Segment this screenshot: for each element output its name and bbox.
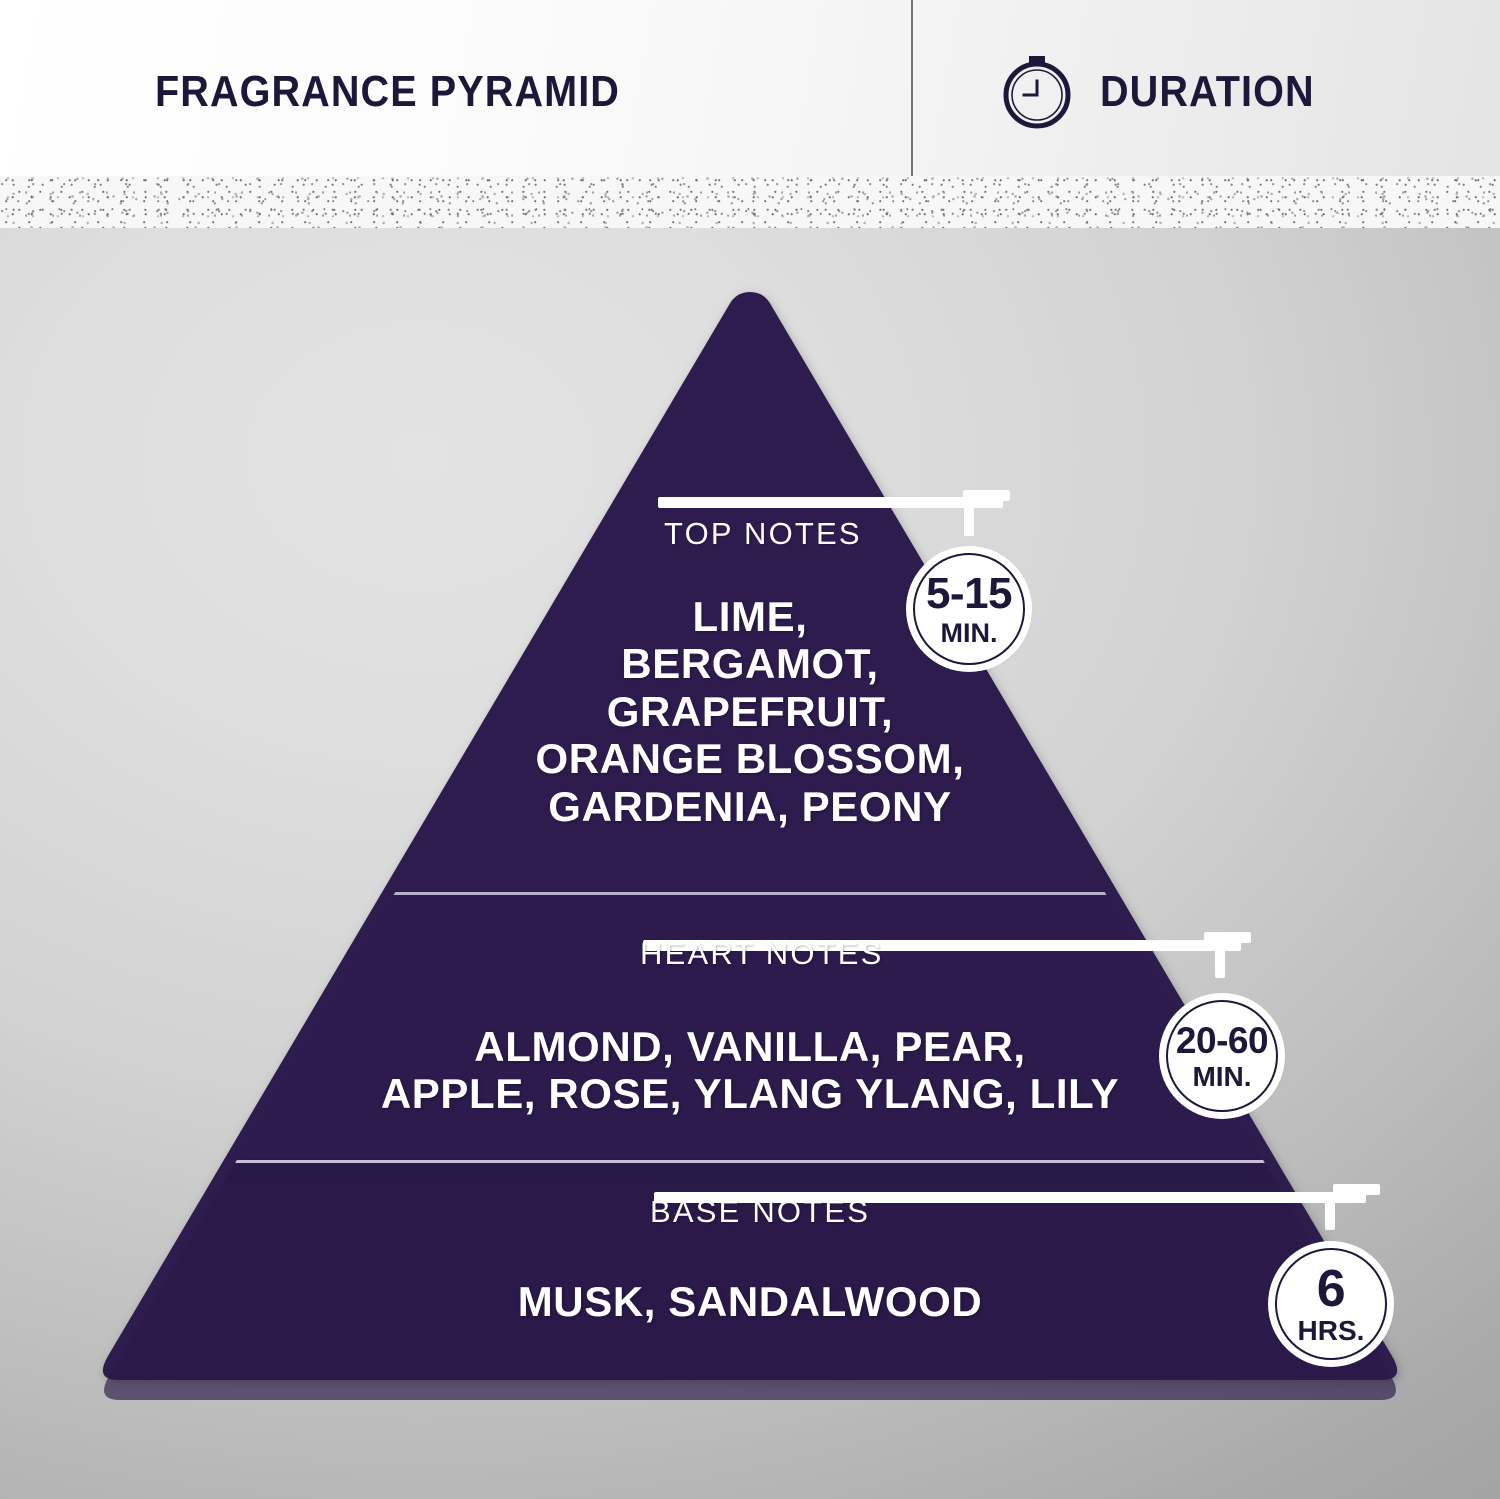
note-line: ALMOND, VANILLA, PEAR, [250,1023,1250,1070]
duration-badge-top[interactable]: 5-15 MIN. [913,553,1025,665]
fragrance-pyramid: TOP NOTES LIME,BERGAMOT,GRAPEFRUIT,ORANG… [0,228,1500,1499]
duration-value-heart: 20-60 [1176,1022,1268,1059]
tier-label-heart: HEART NOTES [640,936,884,972]
duration-unit-base: HRS. [1298,1317,1365,1345]
tier-notes-heart: ALMOND, VANILLA, PEAR,APPLE, ROSE, YLANG… [250,1023,1250,1118]
tier-notes-base: MUSK, SANDALWOOD [250,1278,1250,1325]
duration-unit-heart: MIN. [1192,1063,1251,1091]
page-title: FRAGRANCE PYRAMID [155,67,620,117]
tier-label-base: BASE NOTES [650,1194,870,1230]
note-line: MUSK, SANDALWOOD [250,1278,1250,1325]
note-line: LIME, [350,593,1150,640]
duration-value-top: 5-15 [926,572,1012,616]
note-line: GARDENIA, PEONY [350,783,1150,830]
duration-unit-top: MIN. [941,620,998,647]
note-line: GRAPEFRUIT, [350,688,1150,735]
note-line: APPLE, ROSE, YLANG YLANG, LILY [250,1070,1250,1117]
stopwatch-icon [1000,55,1074,129]
infographic-canvas: FRAGRANCE PYRAMID DURATION [0,0,1500,1499]
header-divider [911,0,913,176]
duration-legend-header: DURATION [1000,55,1339,129]
header-bar: FRAGRANCE PYRAMID DURATION [0,0,1500,176]
note-line: ORANGE BLOSSOM, [350,735,1150,782]
duration-badge-heart[interactable]: 20-60 MIN. [1166,1000,1278,1112]
note-line: BERGAMOT, [350,640,1150,687]
tier-label-top: TOP NOTES [664,516,862,552]
tier-notes-top: LIME,BERGAMOT,GRAPEFRUIT,ORANGE BLOSSOM,… [350,593,1150,830]
duration-value-base: 6 [1317,1263,1345,1315]
duration-label: DURATION [1100,67,1315,117]
glitter-band [0,176,1500,228]
pyramid-stage: TOP NOTES LIME,BERGAMOT,GRAPEFRUIT,ORANG… [0,228,1500,1499]
duration-badge-base[interactable]: 6 HRS. [1275,1248,1387,1360]
